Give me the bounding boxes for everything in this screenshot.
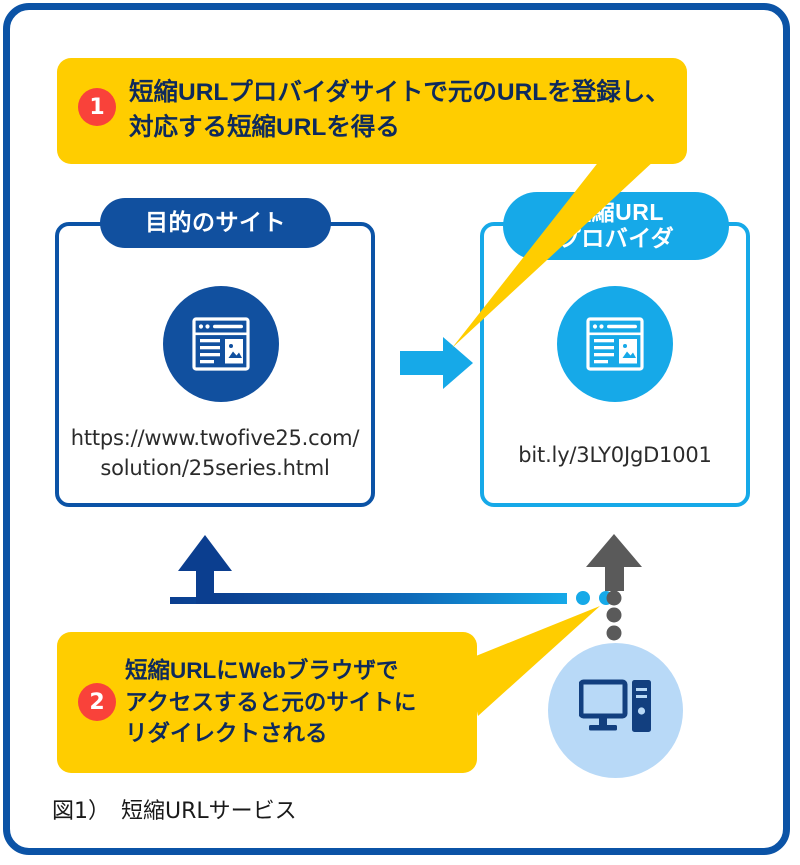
callout-step-2-badge: 2 (78, 683, 116, 721)
callout-step-1-badge: 1 (78, 88, 116, 126)
callout-step-1-text: 短縮URLプロバイダサイトで元のURLを登録し、 対応する短縮URLを得る (129, 76, 670, 146)
shortener-provider-icon-circle (557, 286, 673, 402)
callout-step-2-text: 短縮URLにWebブラウザで アクセスすると元のサイトに リダイレクトされる (125, 655, 416, 751)
callout-step-2: 短縮URLにWebブラウザで アクセスすると元のサイトに リダイレクトされる (57, 632, 477, 773)
figure-container: 目的のサイト https://www.twofive25.com/ soluti… (0, 0, 800, 865)
target-site-title-pill: 目的のサイト (100, 198, 331, 248)
short-url-text: bit.ly/3LY0JgD1001 (483, 440, 747, 470)
target-site-icon-circle (163, 286, 279, 402)
browser-window-icon (190, 313, 252, 375)
client-computer-circle (548, 643, 683, 778)
target-site-url: https://www.twofive25.com/ solution/25se… (58, 423, 372, 484)
callout-step-1: 短縮URLプロバイダサイトで元のURLを登録し、 対応する短縮URLを得る (57, 58, 687, 164)
desktop-computer-icon (579, 678, 653, 744)
shortener-provider-title: 短縮URL プロバイダ (558, 200, 675, 252)
shortener-provider-title-pill: 短縮URL プロバイダ (503, 192, 729, 260)
browser-window-icon (584, 313, 646, 375)
figure-caption: 図1） 短縮URLサービス (52, 793, 297, 825)
target-site-title: 目的のサイト (145, 210, 286, 236)
